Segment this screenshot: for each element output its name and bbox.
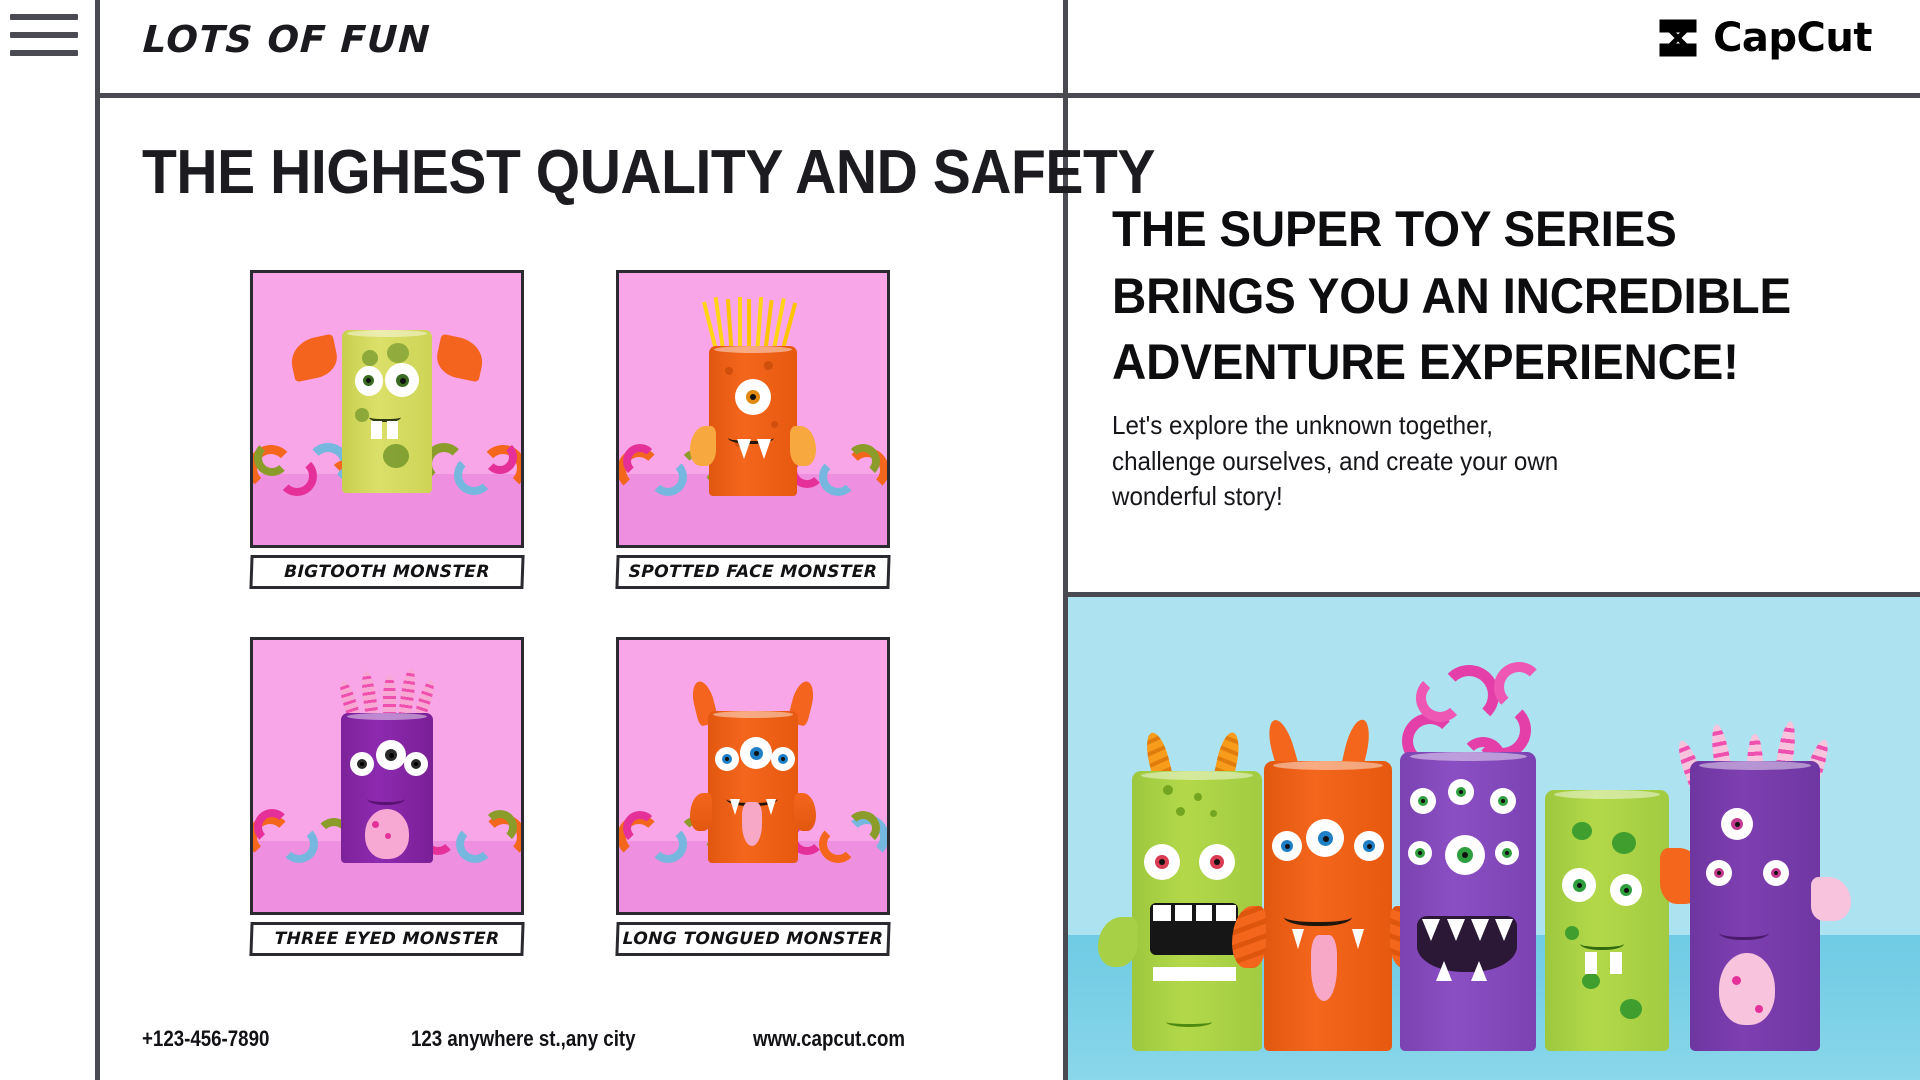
product-photo — [616, 637, 890, 915]
brand-title: LOTS OF FUN — [142, 18, 432, 61]
product-photo — [250, 637, 524, 915]
monster-body — [709, 346, 797, 496]
capcut-logo[interactable]: CapCut — [1656, 18, 1872, 58]
footer-phone[interactable]: +123-456-7890 — [142, 1026, 371, 1052]
product-card-label: THREE EYED MONSTER — [249, 922, 524, 956]
product-card-bigtooth[interactable]: BIGTOOTH MONSTER — [250, 270, 524, 589]
footer-row: +123-456-7890 123 anywhere st.,any city … — [142, 1026, 1022, 1052]
page-title: THE HIGHEST QUALITY AND SAFETY — [142, 140, 1155, 205]
product-card-label: LONG TONGUED MONSTER — [615, 922, 890, 956]
monster-body — [341, 713, 433, 863]
monster-body — [342, 330, 432, 493]
product-card-label: BIGTOOTH MONSTER — [249, 555, 524, 589]
footer: +123-456-7890 123 anywhere st.,any city … — [142, 1026, 1022, 1052]
product-card-grid: BIGTOOTH MONSTER — [250, 270, 930, 1004]
product-card-long-tongued[interactable]: LONG TONGUED MONSTER — [616, 637, 890, 956]
hamburger-menu-icon[interactable] — [10, 10, 78, 56]
footer-website[interactable]: www.capcut.com — [753, 1026, 982, 1052]
card-row: BIGTOOTH MONSTER — [250, 270, 930, 589]
capcut-mark-icon — [1656, 18, 1700, 58]
monster-body — [708, 711, 798, 863]
card-row: THREE EYED MONSTER — [250, 637, 930, 956]
hamburger-bar — [10, 50, 78, 56]
monster-horn-right — [434, 334, 487, 383]
product-card-spotted-face[interactable]: SPOTTED FACE MONSTER — [616, 270, 890, 589]
footer-address: 123 anywhere st.,any city — [411, 1026, 701, 1052]
divider-vertical-left — [95, 0, 100, 1080]
group-monster-photo — [1068, 597, 1920, 1080]
right-body-text: Let's explore the unknown together, chal… — [1112, 408, 1689, 515]
hamburger-bar — [10, 32, 78, 38]
product-photo — [616, 270, 890, 548]
right-heading: THE SUPER TOY SERIES BRINGS YOU AN INCRE… — [1112, 196, 1834, 396]
capcut-wordmark: CapCut — [1713, 18, 1872, 58]
monster-horn-left — [287, 334, 340, 383]
divider-header — [95, 93, 1920, 98]
poster-page: LOTS OF FUN CapCut THE HIGHEST QUALITY A… — [0, 0, 1920, 1080]
hamburger-bar — [10, 14, 78, 20]
product-card-label: SPOTTED FACE MONSTER — [615, 555, 890, 589]
product-photo — [250, 270, 524, 548]
product-card-three-eyed[interactable]: THREE EYED MONSTER — [250, 637, 524, 956]
